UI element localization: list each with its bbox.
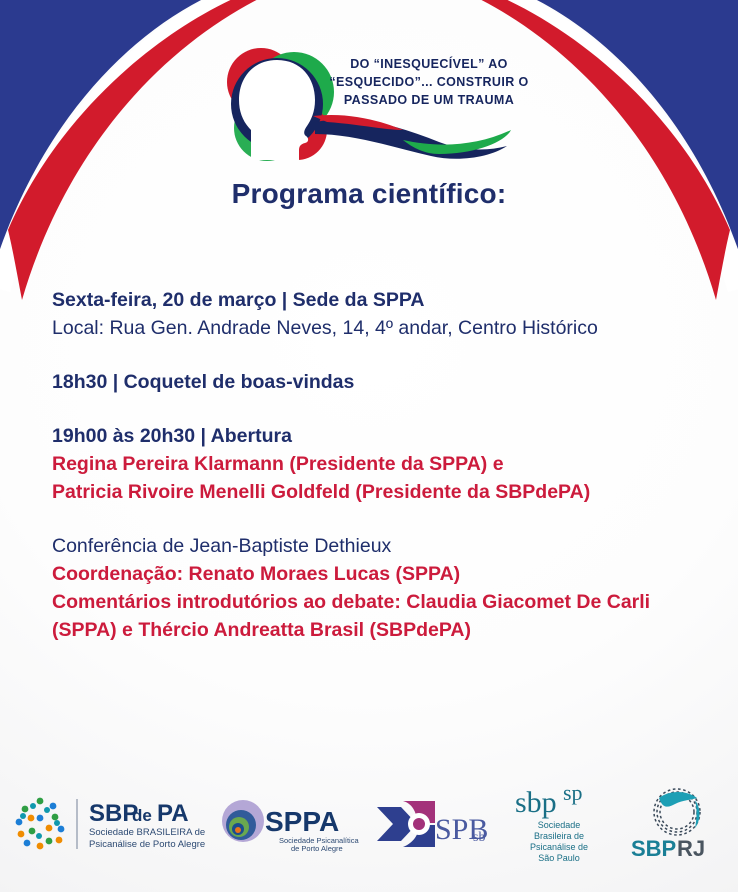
program-line: Regina Pereira Klarmann (Presidente da S…: [52, 450, 702, 478]
program-line: Coordenação: Renato Moraes Lucas (SPPA): [52, 560, 702, 588]
logo-sppa: SPPA Sociedade Psicanalítica de Porto Al…: [219, 793, 359, 855]
poster-root: DO “INESQUECÍVEL” AO “ESQUECIDO”... CONS…: [0, 0, 738, 892]
logo-sbpdepa: SBP de PA Sociedade BRASILEIRA de Psican…: [9, 791, 205, 857]
sbpdepa-subtitle-1: Sociedade BRASILEIRA de: [89, 827, 205, 838]
concentric-circles-icon: [222, 800, 264, 842]
sbprj-wordmark-rj: RJ: [677, 836, 705, 861]
program-line: Comentários introdutórios ao debate: Cla…: [52, 588, 702, 616]
program-line: 19h00 às 20h30 | Abertura: [52, 422, 702, 450]
logo-tagline-line-3: PASSADO DE UM TRAUMA: [344, 93, 514, 107]
logo-tagline-line-2: “ESQUECIDO”... CONSTRUIR O: [329, 75, 528, 89]
event-logo: DO “INESQUECÍVEL” AO “ESQUECIDO”... CONS…: [0, 30, 738, 170]
striped-ring-swoosh-icon: [654, 789, 700, 835]
program-line: (SPPA) e Thércio Andreatta Brasil (SBPde…: [52, 616, 702, 644]
program-line: Conferência de Jean-Baptiste Dethieux: [52, 532, 702, 560]
sbpsp-subtitle-2: Brasileira de: [534, 831, 584, 841]
sbprj-swoosh: [659, 792, 697, 807]
sbpdepa-wordmark-de: de: [132, 806, 152, 825]
logo-spbsb: SPB sb: [373, 793, 493, 855]
sbprj-logo: SBP RJ: [625, 786, 729, 862]
sppa-logo: SPPA Sociedade Psicanalítica de Porto Al…: [219, 793, 359, 855]
sbpsp-subtitle-4: São Paulo: [538, 853, 580, 863]
sppa-subtitle-2: de Porto Alegre: [291, 844, 343, 853]
sbprj-wordmark-sbp: SBP: [631, 836, 676, 861]
page-title: Programa científico:: [0, 178, 738, 210]
logo-navy-swoosh: [315, 119, 507, 158]
sbpsp-wordmark: sbp: [515, 786, 557, 819]
arrow-eye-icon: [377, 801, 435, 847]
program-line: Sexta-feira, 20 de março | Sede da SPPA: [52, 286, 702, 314]
sbpsp-subtitle-1: Sociedade: [538, 820, 581, 830]
sbpdepa-subtitle-2: Psicanálise de Porto Alegre: [89, 839, 205, 850]
sbpsp-wordmark-superscript: sp: [563, 782, 583, 805]
program-block-day-venue: Sexta-feira, 20 de março | Sede da SPPAL…: [52, 286, 702, 342]
sbpsp-logo: sbp sp Sociedade Brasileira de Psicanáli…: [507, 782, 611, 866]
program-block-cocktail: 18h30 | Coquetel de boas-vindas: [52, 368, 702, 396]
program-block-conference: Conferência de Jean-Baptiste DethieuxCoo…: [52, 532, 702, 644]
program-line: Patricia Rivoire Menelli Goldfeld (Presi…: [52, 478, 702, 506]
sbpdepa-logo: SBP de PA Sociedade BRASILEIRA de Psican…: [9, 791, 205, 857]
logo-tagline-line-1: DO “INESQUECÍVEL” AO: [350, 56, 508, 71]
sbpdepa-wordmark-pa: PA: [157, 800, 189, 827]
people-circle-mosaic-icon: [11, 795, 69, 853]
logo-sbprj: SBP RJ: [625, 786, 729, 862]
program-line: 18h30 | Coquetel de boas-vindas: [52, 368, 702, 396]
sbpsp-subtitle-3: Psicanálise de: [530, 842, 588, 852]
spbsb-logo: SPB sb: [373, 793, 493, 855]
program-list: Sexta-feira, 20 de março | Sede da SPPAL…: [52, 286, 702, 644]
spbsb-wordmark-suffix: sb: [473, 830, 485, 845]
sppa-wordmark: SPPA: [265, 806, 339, 837]
footer-sponsor-logos: SBP de PA Sociedade BRASILEIRA de Psican…: [0, 778, 738, 870]
program-block-opening: 19h00 às 20h30 | AberturaRegina Pereira …: [52, 422, 702, 506]
sbpdepa-wordmark-sbp: SBP: [89, 800, 138, 827]
head-silhouette-circles-logo: DO “INESQUECÍVEL” AO “ESQUECIDO”... CONS…: [189, 30, 549, 170]
program-line: Local: Rua Gen. Andrade Neves, 14, 4º an…: [52, 314, 702, 342]
logo-sbpsp: sbp sp Sociedade Brasileira de Psicanáli…: [507, 782, 611, 866]
